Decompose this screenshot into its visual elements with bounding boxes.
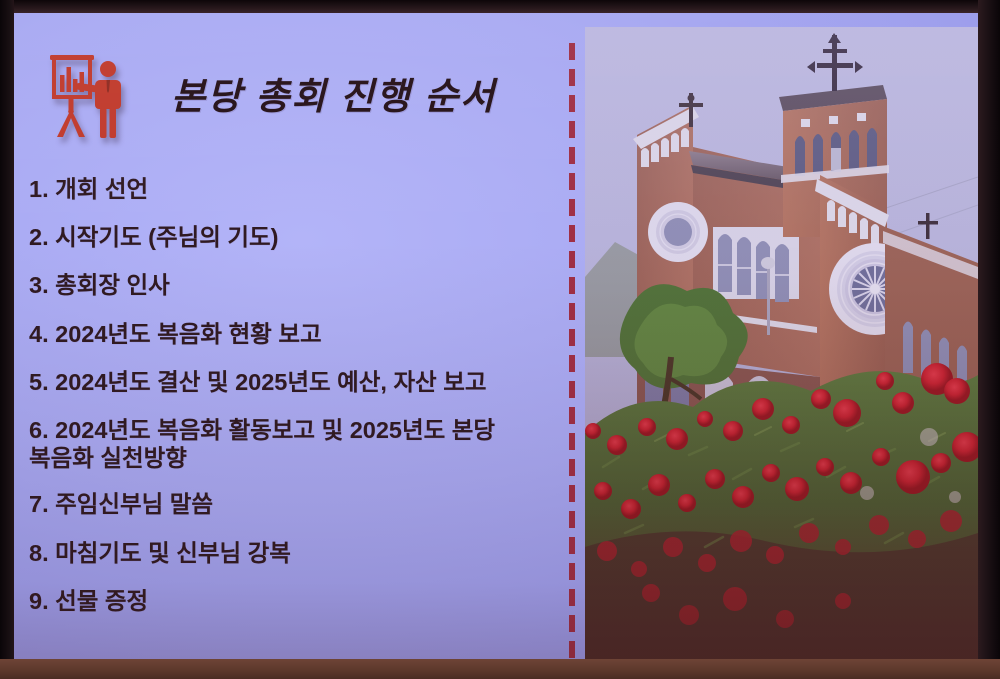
slide-left-column: 본당 총회 진행 순서 1. 개회 선언 2. 시작기도 (주님의 기도) 3.… [13,13,573,660]
agenda-item-6: 6. 2024년도 복음화 활동보고 및 2025년도 본당 복음화 실천방향 [29,416,573,472]
agenda-item-2: 2. 시작기도 (주님의 기도) [29,223,573,251]
presenter-flipchart-icon [48,53,124,145]
agenda-item-8: 8. 마침기도 및 신부님 강복 [29,539,573,567]
screen-right-edge [978,0,1000,679]
agenda-item-4: 4. 2024년도 복음화 현황 보고 [29,320,573,348]
agenda-item-5: 5. 2024년도 결산 및 2025년도 예산, 자산 보고 [29,368,573,396]
page-title: 본당 총회 진행 순서 [171,66,496,120]
dashed-divider [569,43,575,660]
slide-title-row: 본당 총회 진행 순서 [43,49,543,145]
screen-top-edge [0,0,1000,13]
agenda-list: 1. 개회 선언 2. 시작기도 (주님의 기도) 3. 총회장 인사 4. 2… [29,175,573,635]
agenda-item-9: 9. 선물 증정 [29,587,573,615]
presentation-slide: 본당 총회 진행 순서 1. 개회 선언 2. 시작기도 (주님의 기도) 3.… [13,13,978,660]
agenda-item-7: 7. 주임신부님 말씀 [29,490,573,518]
catholic-church-with-red-roses-photo [585,27,978,660]
agenda-item-3: 3. 총회장 인사 [29,271,573,299]
projection-room-surround: 본당 총회 진행 순서 1. 개회 선언 2. 시작기도 (주님의 기도) 3.… [0,0,1000,679]
screen-left-edge [0,0,14,679]
wall-below-screen [0,659,1000,679]
agenda-item-1: 1. 개회 선언 [29,175,573,203]
